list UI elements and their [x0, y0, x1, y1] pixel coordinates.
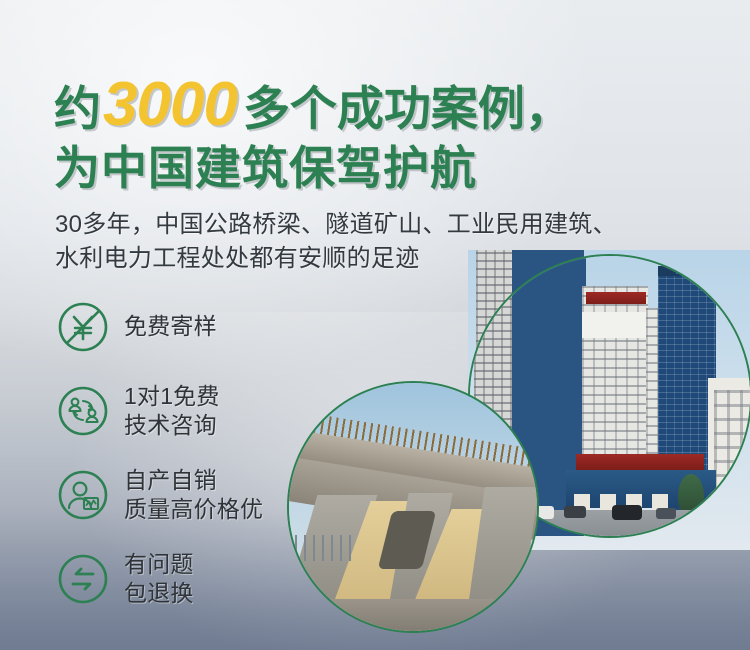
bridge-scene: [289, 383, 537, 631]
feature-label: 1对1免费 技术咨询: [124, 382, 220, 441]
construction-ground: [289, 599, 539, 633]
promo-banner: 约3000多个成功案例， 为中国建筑保驾护航 30多年，中国公路桥梁、隧道矿山、…: [0, 0, 750, 650]
feature-label-line-2: 技术咨询: [124, 411, 220, 440]
feature-label-line-1: 免费寄样: [124, 312, 217, 341]
feature-label-line-1: 自产自销: [124, 466, 263, 495]
feature-item[interactable]: 自产自销 质量高价格优: [56, 464, 316, 526]
feature-item[interactable]: 有问题 包退换: [56, 548, 316, 610]
feature-label: 免费寄样: [124, 312, 217, 341]
self-production-icon: [56, 468, 110, 522]
headline: 约3000多个成功案例， 为中国建筑保驾护航: [54, 74, 572, 191]
vehicle-van: [612, 505, 642, 520]
side-building-windows: [714, 390, 750, 500]
feature-list: 免费寄样 1对1免费 技术咨询: [56, 296, 316, 632]
feature-label-line-1: 有问题: [124, 550, 194, 579]
center-block-louvre: [582, 312, 648, 338]
vehicle-dark-1: [564, 506, 586, 518]
feature-label: 自产自销 质量高价格优: [124, 466, 263, 525]
headline-number: 3000: [101, 70, 243, 139]
feature-item[interactable]: 免费寄样: [56, 296, 316, 358]
feature-label-line-2: 包退换: [124, 579, 194, 608]
feature-item[interactable]: 1对1免费 技术咨询: [56, 380, 316, 442]
tower-right-logo: [676, 268, 698, 274]
headline-line-1: 约3000多个成功案例，: [54, 74, 572, 136]
feature-label-line-1: 1对1免费: [124, 382, 220, 411]
headline-prefix: 约: [54, 82, 101, 135]
entrance-sign-band: [576, 454, 704, 470]
return-exchange-icon: [56, 552, 110, 606]
bridge-photo: [287, 381, 539, 633]
one-on-one-consult-icon: [56, 384, 110, 438]
headline-suffix: 多个成功案例，: [243, 82, 572, 135]
sub-copy: 30多年，中国公路桥梁、隧道矿山、工业民用建筑、 水利电力工程处处都有安顺的足迹: [55, 208, 617, 276]
headline-line-2: 为中国建筑保驾护航: [54, 145, 572, 191]
sub-copy-line-1: 30多年，中国公路桥梁、隧道矿山、工业民用建筑、: [55, 208, 617, 242]
roof-sign-band: [586, 292, 646, 304]
feature-label: 有问题 包退换: [124, 550, 194, 609]
vehicle-dark-2: [656, 508, 676, 519]
feature-label-line-2: 质量高价格优: [124, 495, 263, 524]
sub-copy-line-2: 水利电力工程处处都有安顺的足迹: [55, 242, 617, 276]
free-sample-icon: [56, 300, 110, 354]
